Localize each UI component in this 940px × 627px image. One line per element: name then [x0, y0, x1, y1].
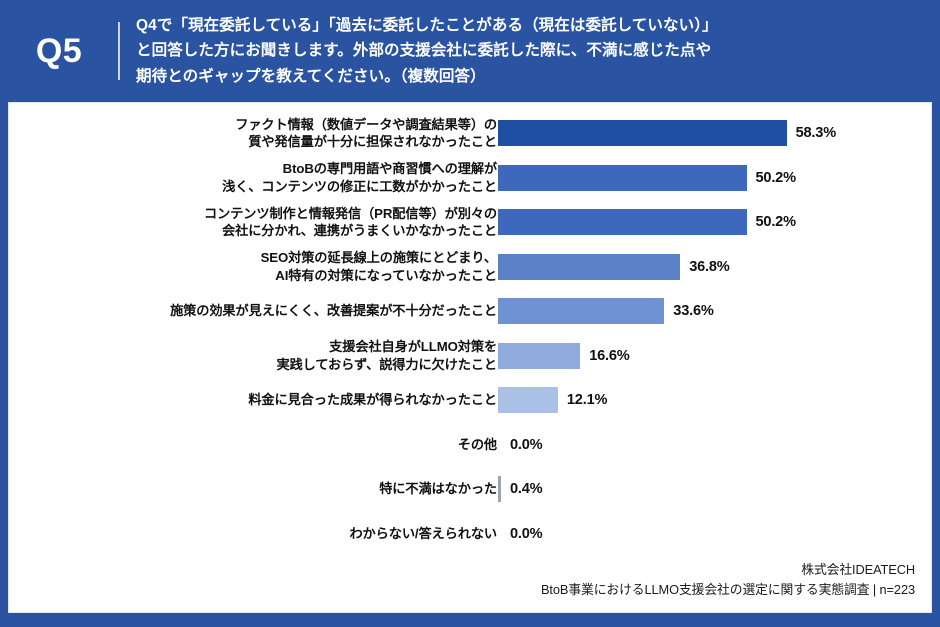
- chart-panel: ファクト情報（数値データや調査結果等）の質や発信量が十分に担保されなかったこと5…: [8, 102, 932, 613]
- category-label-line: その他: [67, 436, 497, 454]
- chart-row: 料金に見合った成果が得られなかったこと12.1%: [9, 378, 933, 423]
- bar-area: 50.2%: [498, 156, 796, 201]
- chart-row: 支援会社自身がLLMO対策を実践しておらず、説得力に欠けたこと16.6%: [9, 334, 933, 379]
- bar-area: 50.2%: [498, 200, 796, 245]
- category-label: 特に不満はなかった: [67, 480, 497, 498]
- bar-value-label: 0.0%: [510, 526, 542, 542]
- chart-row: 特に不満はなかった0.4%: [9, 467, 933, 512]
- horizontal-bar-chart: ファクト情報（数値データや調査結果等）の質や発信量が十分に担保されなかったこと5…: [9, 111, 933, 556]
- bar-value-label: 50.2%: [756, 214, 796, 230]
- chart-row: SEO対策の延長線上の施策にとどまり、AI特有の対策になっていなかったこと36.…: [9, 245, 933, 290]
- question-number: Q5: [0, 34, 118, 68]
- footer-company: 株式会社IDEATECH: [541, 560, 915, 580]
- question-header: Q5 Q4で「現在委託している」「過去に委託したことがある（現在は委託していない…: [0, 0, 940, 102]
- category-label: わからない/答えられない: [67, 525, 497, 543]
- chart-row: ファクト情報（数値データや調査結果等）の質や発信量が十分に担保されなかったこと5…: [9, 111, 933, 156]
- bar-value-label: 33.6%: [673, 303, 713, 319]
- bar-area: 0.0%: [498, 512, 542, 557]
- bar-area: 16.6%: [498, 334, 630, 379]
- bar-value-label: 36.8%: [689, 259, 729, 275]
- question-text: Q4で「現在委託している」「過去に委託したことがある（現在は委託していない）」 …: [136, 13, 738, 88]
- chart-row: BtoBの専門用語や商習慣への理解が浅く、コンテンツの修正に工数がかかったこと5…: [9, 156, 933, 201]
- category-label-line: 特に不満はなかった: [67, 480, 497, 498]
- category-label-line: SEO対策の延長線上の施策にとどまり、: [67, 249, 497, 267]
- footer-survey: BtoB事業におけるLLMO支援会社の選定に関する実態調査 | n=223: [541, 580, 915, 600]
- bar-value-label: 0.0%: [510, 437, 542, 453]
- bar[interactable]: [498, 209, 747, 235]
- category-label-line: 実践しておらず、説得力に欠けたこと: [67, 356, 497, 374]
- chart-row: その他0.0%: [9, 423, 933, 468]
- chart-row: わからない/答えられない0.0%: [9, 512, 933, 557]
- category-label-line: 会社に分かれ、連携がうまくいかなかったこと: [67, 222, 497, 240]
- bar-value-label: 50.2%: [756, 170, 796, 186]
- question-line-1: Q4で「現在委託している」「過去に委託したことがある（現在は委託していない）」: [136, 13, 718, 38]
- bar-value-label: 58.3%: [796, 125, 836, 141]
- chart-row: コンテンツ制作と情報発信（PR配信等）が別々の会社に分かれ、連携がうまくいかなか…: [9, 200, 933, 245]
- bar[interactable]: [498, 165, 747, 191]
- category-label-line: 施策の効果が見えにくく、改善提案が不十分だったこと: [67, 302, 497, 320]
- category-label: コンテンツ制作と情報発信（PR配信等）が別々の会社に分かれ、連携がうまくいかなか…: [67, 205, 497, 240]
- category-label-line: 料金に見合った成果が得られなかったこと: [67, 391, 497, 409]
- category-label-line: ファクト情報（数値データや調査結果等）の: [67, 116, 497, 134]
- bar-value-label: 16.6%: [589, 348, 629, 364]
- chart-row: 施策の効果が見えにくく、改善提案が不十分だったこと33.6%: [9, 289, 933, 334]
- category-label-line: 浅く、コンテンツの修正に工数がかかったこと: [67, 178, 497, 196]
- bar[interactable]: [498, 476, 501, 502]
- bar-area: 0.4%: [498, 467, 542, 512]
- bar-value-label: 0.4%: [510, 481, 542, 497]
- category-label: ファクト情報（数値データや調査結果等）の質や発信量が十分に担保されなかったこと: [67, 116, 497, 151]
- bar[interactable]: [498, 254, 680, 280]
- header-divider: [118, 22, 120, 80]
- category-label: SEO対策の延長線上の施策にとどまり、AI特有の対策になっていなかったこと: [67, 249, 497, 284]
- bar[interactable]: [498, 120, 787, 146]
- category-label-line: 質や発信量が十分に担保されなかったこと: [67, 133, 497, 151]
- bar-area: 36.8%: [498, 245, 730, 290]
- category-label: 施策の効果が見えにくく、改善提案が不十分だったこと: [67, 302, 497, 320]
- bar-area: 0.0%: [498, 423, 542, 468]
- category-label: 支援会社自身がLLMO対策を実践しておらず、説得力に欠けたこと: [67, 338, 497, 373]
- category-label: 料金に見合った成果が得られなかったこと: [67, 391, 497, 409]
- question-line-3: 期待とのギャップを教えてください。（複数回答）: [136, 64, 718, 89]
- category-label-line: コンテンツ制作と情報発信（PR配信等）が別々の: [67, 205, 497, 223]
- bar[interactable]: [498, 298, 664, 324]
- bar-area: 33.6%: [498, 289, 714, 334]
- bar-area: 12.1%: [498, 378, 607, 423]
- category-label: その他: [67, 436, 497, 454]
- question-line-2: と回答した方にお聞きします。外部の支援会社に委託した際に、不満に感じた点や: [136, 38, 718, 63]
- category-label-line: AI特有の対策になっていなかったこと: [67, 267, 497, 285]
- category-label-line: わからない/答えられない: [67, 525, 497, 543]
- bar[interactable]: [498, 343, 580, 369]
- bar[interactable]: [498, 387, 558, 413]
- category-label-line: BtoBの専門用語や商習慣への理解が: [67, 160, 497, 178]
- category-label: BtoBの専門用語や商習慣への理解が浅く、コンテンツの修正に工数がかかったこと: [67, 160, 497, 195]
- bar-area: 58.3%: [498, 111, 836, 156]
- bar-value-label: 12.1%: [567, 392, 607, 408]
- chart-footer: 株式会社IDEATECH BtoB事業におけるLLMO支援会社の選定に関する実態…: [541, 560, 915, 600]
- category-label-line: 支援会社自身がLLMO対策を: [67, 338, 497, 356]
